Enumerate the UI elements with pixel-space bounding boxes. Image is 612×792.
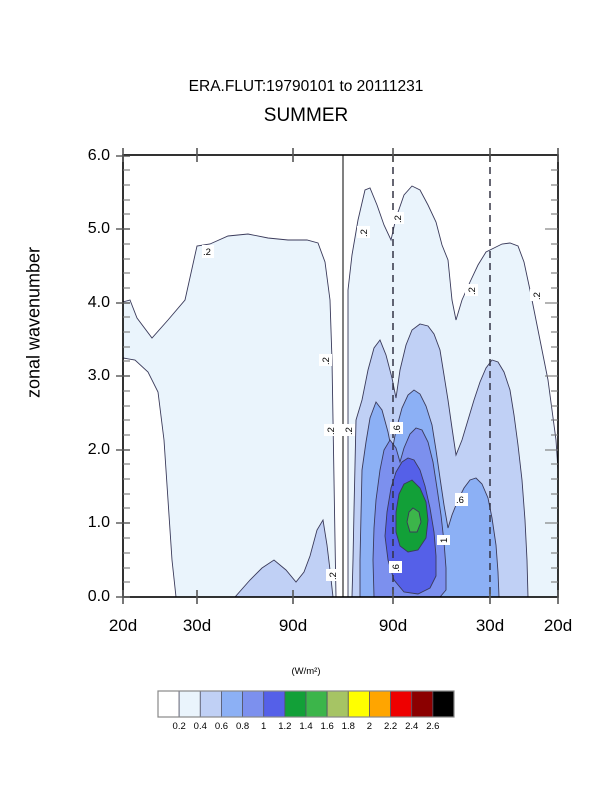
- svg-text:.2: .2: [532, 292, 543, 300]
- colorbar-cell-13: [433, 691, 454, 717]
- colorbar-cell-9: [348, 691, 369, 717]
- contour-label-right-5: .2: [342, 424, 355, 436]
- colorbar-unit-label: (W/m²): [0, 666, 612, 677]
- svg-text:1: 1: [439, 538, 450, 543]
- colorbar-cell-3: [221, 691, 242, 717]
- contour-label-right-1: .2: [357, 226, 370, 238]
- colorbar-cell-12: [412, 691, 433, 717]
- contour-label-right-7: .6: [455, 493, 468, 506]
- contour-label-left-4: .2: [326, 569, 339, 581]
- colorbar-cell-0: [158, 691, 179, 717]
- contour-label-right-9: 1: [437, 535, 450, 545]
- svg-text:.2: .2: [326, 427, 337, 435]
- svg-text:.2: .2: [328, 572, 339, 580]
- svg-text:.2: .2: [467, 287, 478, 295]
- svg-text:.6: .6: [456, 495, 464, 506]
- colorbar-cells: [158, 691, 454, 717]
- svg-text:.2: .2: [344, 427, 355, 435]
- svg-text:.2: .2: [393, 215, 404, 223]
- figure-canvas: ERA.FLUT:19790101 to 20111231 SUMMER zon…: [0, 0, 612, 792]
- colorbar-tick-2.6: 2.6: [413, 722, 453, 732]
- contour-label-left-2: .2: [319, 354, 332, 366]
- colorbar-cell-10: [369, 691, 390, 717]
- svg-text:.2: .2: [321, 357, 332, 365]
- svg-text:.2: .2: [359, 229, 370, 237]
- contour-label-right-2: .2: [391, 212, 404, 224]
- contour-label-left-3: .2: [324, 424, 337, 436]
- colorbar-cell-1: [179, 691, 200, 717]
- contour-label-right-4: .2: [530, 289, 543, 301]
- contour-label-left-1: .2: [202, 245, 214, 258]
- right-contour-band-1.4: [407, 508, 421, 532]
- contour-label-right-6: .6: [390, 422, 403, 434]
- colorbar-cell-7: [306, 691, 327, 717]
- contour-label-right-8: .6: [389, 561, 402, 573]
- contour-label-right-3: .2: [465, 284, 478, 296]
- colorbar-cell-2: [200, 691, 221, 717]
- svg-text:.2: .2: [203, 247, 211, 258]
- colorbar-cell-5: [264, 691, 285, 717]
- colorbar: [0, 688, 612, 748]
- colorbar-cell-11: [391, 691, 412, 717]
- colorbar-cell-4: [243, 691, 264, 717]
- svg-text:.6: .6: [391, 564, 402, 572]
- colorbar-cell-8: [327, 691, 348, 717]
- svg-text:.6: .6: [392, 425, 403, 433]
- colorbar-cell-6: [285, 691, 306, 717]
